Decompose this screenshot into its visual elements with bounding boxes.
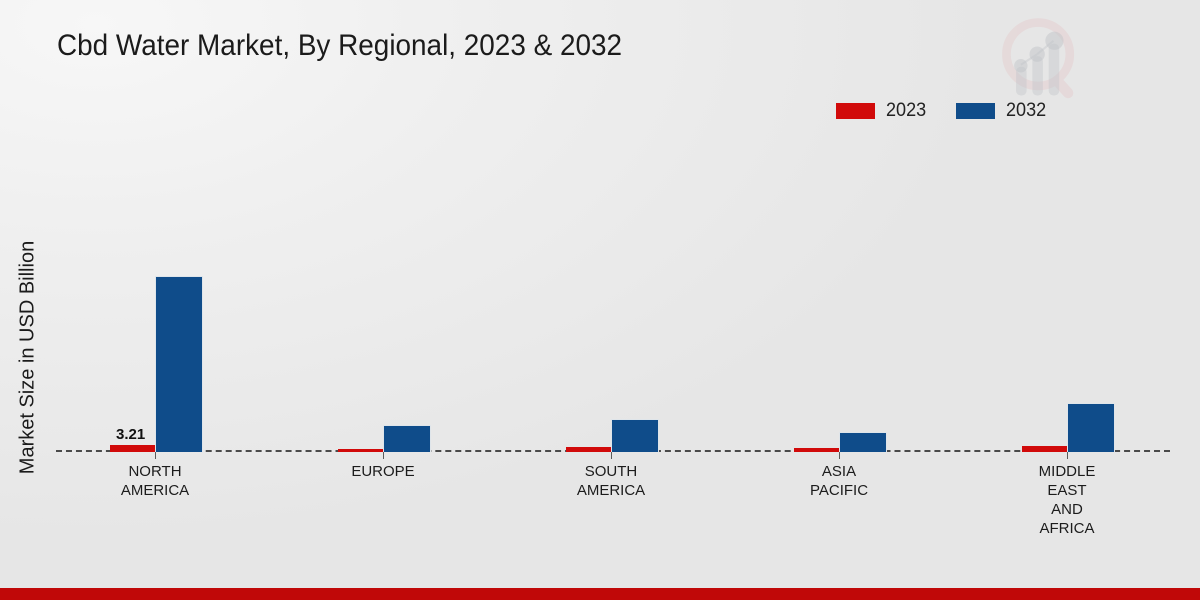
bar-europe-2032[interactable] <box>383 425 431 452</box>
plot-area: 3.21 <box>56 150 1170 452</box>
axis-tick-europe <box>383 452 384 459</box>
bar-group-south-america <box>566 150 712 452</box>
bar-europe-2023[interactable] <box>338 449 383 452</box>
axis-tick-north-america <box>155 452 156 459</box>
bar-label-north-america-2023: 3.21 <box>116 426 145 443</box>
bar-asia-pacific-2023[interactable] <box>794 448 839 452</box>
bar-group-middle-east-and-africa <box>1022 150 1168 452</box>
category-label-middle-east-and-africa: MIDDLE EAST AND AFRICA <box>997 462 1137 538</box>
category-label-north-america: NORTH AMERICA <box>85 462 225 500</box>
bar-asia-pacific-2032[interactable] <box>839 432 887 452</box>
bar-group-north-america: 3.21 <box>110 150 256 452</box>
legend-label-2023: 2023 <box>886 100 926 122</box>
legend-item-2032[interactable]: 2032 <box>956 100 1048 122</box>
bar-south-america-2032[interactable] <box>611 419 659 452</box>
axis-tick-south-america <box>611 452 612 459</box>
axis-tick-middle-east-and-africa <box>1067 452 1068 459</box>
chart-title: Cbd Water Market, By Regional, 2023 & 20… <box>57 29 622 63</box>
bar-middle-east-and-africa-2023[interactable] <box>1022 446 1067 452</box>
market-research-magnifier-logo <box>993 12 1089 108</box>
axis-tick-asia-pacific <box>839 452 840 459</box>
bar-group-europe <box>338 150 484 452</box>
bar-group-asia-pacific <box>794 150 940 452</box>
chart-legend: 2023 2032 <box>836 100 1049 122</box>
legend-swatch-2023 <box>836 103 875 119</box>
category-label-europe: EUROPE <box>313 462 453 481</box>
legend-item-2023[interactable]: 2023 <box>836 100 928 122</box>
category-label-south-america: SOUTH AMERICA <box>541 462 681 500</box>
legend-label-2032: 2032 <box>1006 100 1046 122</box>
y-axis-title: Market Size in USD Billion <box>17 163 40 553</box>
bar-south-america-2023[interactable] <box>566 447 611 452</box>
bar-middle-east-and-africa-2032[interactable] <box>1067 403 1115 452</box>
chart-canvas: Cbd Water Market, By Regional, 2023 & 20… <box>0 0 1200 600</box>
bar-north-america-2032[interactable] <box>155 276 203 452</box>
legend-swatch-2032 <box>956 103 995 119</box>
bottom-accent-bar <box>0 588 1200 600</box>
bar-north-america-2023[interactable] <box>110 445 155 452</box>
category-label-asia-pacific: ASIA PACIFIC <box>769 462 909 500</box>
